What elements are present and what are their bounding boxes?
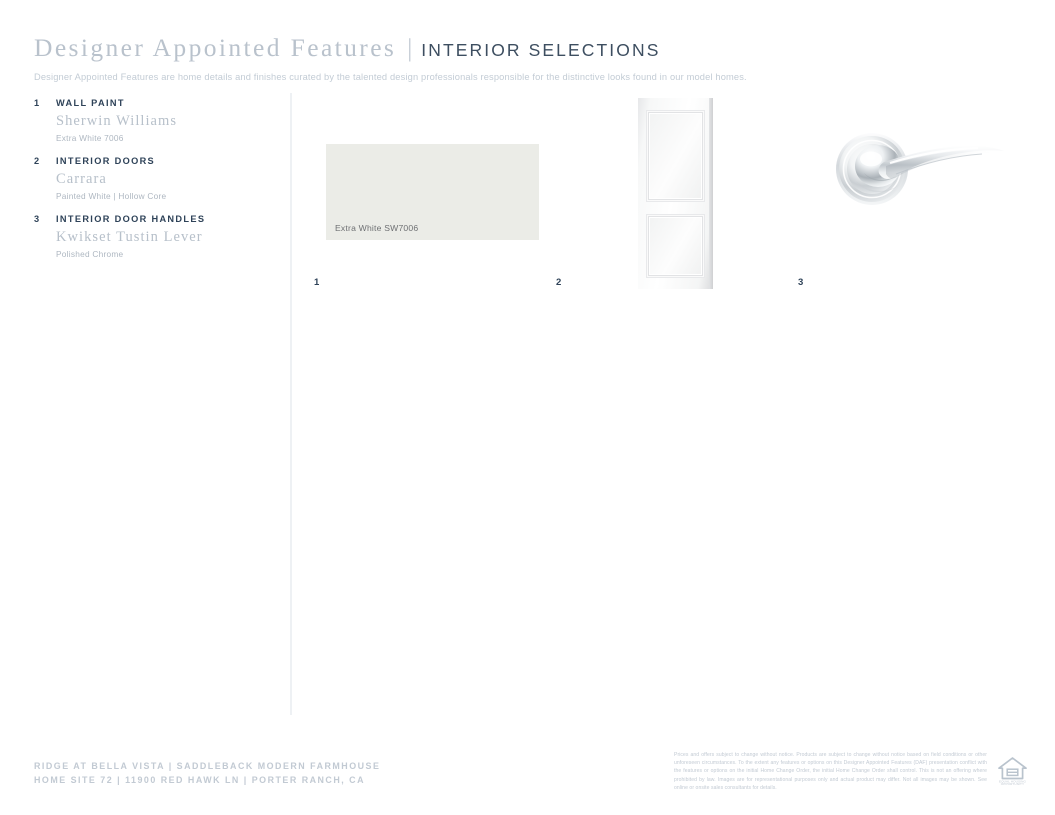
feature-body: Kwikset Tustin Lever Polished Chrome <box>56 228 264 259</box>
feature-header: 2 INTERIOR DOORS <box>34 156 264 166</box>
title-separator: | <box>407 35 412 63</box>
feature-item-interior-door-handles: 3 INTERIOR DOOR HANDLES Kwikset Tustin L… <box>34 214 264 259</box>
feature-category: INTERIOR DOOR HANDLES <box>56 214 205 224</box>
page-title: Designer Appointed Features | INTERIOR S… <box>34 33 1024 63</box>
feature-header: 3 INTERIOR DOOR HANDLES <box>34 214 264 224</box>
page-title-serif: Designer Appointed Features <box>34 33 396 63</box>
feature-product-name: Carrara <box>56 170 264 188</box>
equal-housing-opportunity-logo: EQUAL HOUSING OPPORTUNITY <box>996 753 1029 786</box>
feature-number: 1 <box>34 98 56 108</box>
feature-product-name: Sherwin Williams <box>56 112 264 130</box>
footer-community-line-1: RIDGE AT BELLA VISTA | SADDLEBACK MODERN… <box>34 760 380 774</box>
lever-handle-icon <box>826 126 1008 212</box>
feature-product-description: Extra White 7006 <box>56 133 264 143</box>
paint-swatch-label: Extra White SW7006 <box>335 223 418 233</box>
feature-category: WALL PAINT <box>56 98 125 108</box>
door-handle-image <box>826 126 1008 212</box>
callout-number-1: 1 <box>314 277 320 288</box>
feature-product-name: Kwikset Tustin Lever <box>56 228 264 246</box>
door-panel-bottom <box>649 217 702 275</box>
feature-product-description: Polished Chrome <box>56 249 264 259</box>
page-header: Designer Appointed Features | INTERIOR S… <box>34 33 1024 82</box>
feature-body: Sherwin Williams Extra White 7006 <box>56 112 264 143</box>
feature-list: 1 WALL PAINT Sherwin Williams Extra Whit… <box>34 98 264 272</box>
feature-number: 2 <box>34 156 56 166</box>
feature-body: Carrara Painted White | Hollow Core <box>56 170 264 201</box>
equal-housing-icon: EQUAL HOUSING OPPORTUNITY <box>996 753 1029 786</box>
page-title-section: INTERIOR SELECTIONS <box>421 40 660 61</box>
feature-product-description: Painted White | Hollow Core <box>56 191 264 201</box>
door-edge <box>709 98 713 289</box>
feature-item-interior-doors: 2 INTERIOR DOORS Carrara Painted White |… <box>34 156 264 201</box>
svg-text:OPPORTUNITY: OPPORTUNITY <box>1001 782 1024 786</box>
feature-header: 1 WALL PAINT <box>34 98 264 108</box>
callout-number-3: 3 <box>798 277 804 288</box>
door-panel-top <box>649 113 702 199</box>
footer-community-line-2: HOME SITE 72 | 11900 RED HAWK LN | PORTE… <box>34 774 380 788</box>
page-subtitle: Designer Appointed Features are home det… <box>34 72 1024 82</box>
footer-community-info: RIDGE AT BELLA VISTA | SADDLEBACK MODERN… <box>34 760 380 788</box>
door-slab <box>638 98 713 289</box>
footer-disclaimer-text: Prices and offers subject to change with… <box>674 751 987 792</box>
feature-item-wall-paint: 1 WALL PAINT Sherwin Williams Extra Whit… <box>34 98 264 143</box>
vertical-divider <box>290 93 292 715</box>
interior-door-image <box>638 98 713 289</box>
paint-swatch: Extra White SW7006 <box>326 144 539 240</box>
feature-number: 3 <box>34 214 56 224</box>
feature-category: INTERIOR DOORS <box>56 156 155 166</box>
callout-number-2: 2 <box>556 277 562 288</box>
